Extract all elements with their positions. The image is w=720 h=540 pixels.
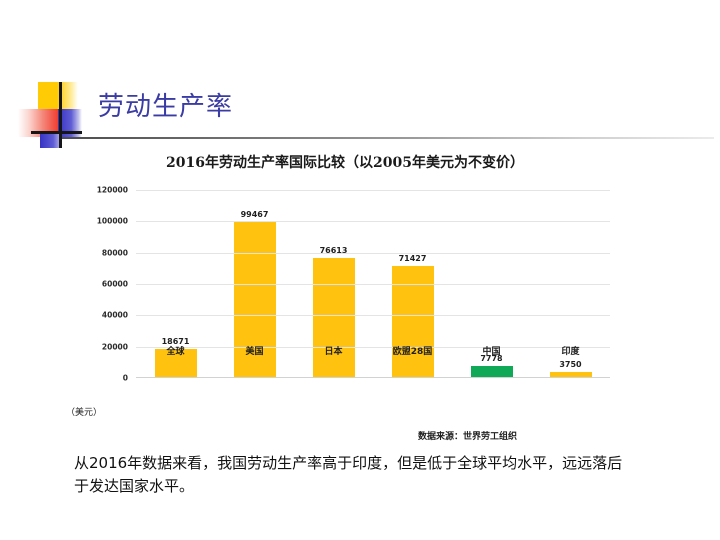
x-axis-tick-label: 印度: [531, 344, 610, 357]
x-axis-tick-label: 中国: [452, 344, 531, 357]
y-axis-tick-label: 60000: [58, 280, 128, 289]
y-axis-tick-label: 100000: [58, 217, 128, 226]
logo-horizontal-line: [31, 131, 82, 134]
bar-value-label: 99467: [215, 210, 294, 219]
x-axis-tick-label: 美国: [215, 344, 294, 357]
gridline: [136, 284, 610, 285]
slide-caption: 从2016年数据来看，我国劳动生产率高于印度，但是低于全球平均水平，远远落后于发…: [74, 452, 630, 497]
x-axis-labels: 全球美国日本欧盟28国中国印度: [136, 344, 610, 357]
y-axis-tick-label: 80000: [58, 248, 128, 257]
gridline: [136, 315, 610, 316]
x-axis-tick-label: 全球: [136, 344, 215, 357]
source-note: 数据来源：世界劳工组织: [418, 429, 517, 442]
title-divider: [62, 137, 714, 139]
bar[interactable]: [313, 258, 355, 378]
chart-plot-area: 120000100000800006000040000200000 186719…: [0, 190, 720, 390]
x-axis-tick-label: 日本: [294, 344, 373, 357]
gridline: [136, 221, 610, 222]
bar[interactable]: [392, 266, 434, 378]
x-axis-tick-label: 欧盟28国: [373, 344, 452, 357]
gridline: [136, 190, 610, 191]
y-axis: 120000100000800006000040000200000: [60, 190, 134, 378]
y-axis-tick-label: 40000: [58, 311, 128, 320]
bar-chart: 2016年劳动生产率国际比较（以2005年美元为不变价） 12000010000…: [0, 152, 720, 442]
title-block: 劳动生产率: [0, 62, 720, 152]
chart-title: 2016年劳动生产率国际比较（以2005年美元为不变价）: [0, 152, 690, 172]
bar-value-label: 71427: [373, 254, 452, 263]
bar-value-label: 3750: [531, 360, 610, 369]
gridline: [136, 253, 610, 254]
y-axis-tick-label: 20000: [58, 342, 128, 351]
y-axis-tick-label: 0: [58, 374, 128, 383]
slide-canvas: 劳动生产率 2016年劳动生产率国际比较（以2005年美元为不变价） 12000…: [0, 0, 720, 540]
y-axis-tick-label: 120000: [58, 186, 128, 195]
x-axis-baseline: [136, 377, 610, 378]
page-title: 劳动生产率: [98, 86, 233, 123]
y-axis-unit-label: （美元）: [66, 405, 102, 418]
